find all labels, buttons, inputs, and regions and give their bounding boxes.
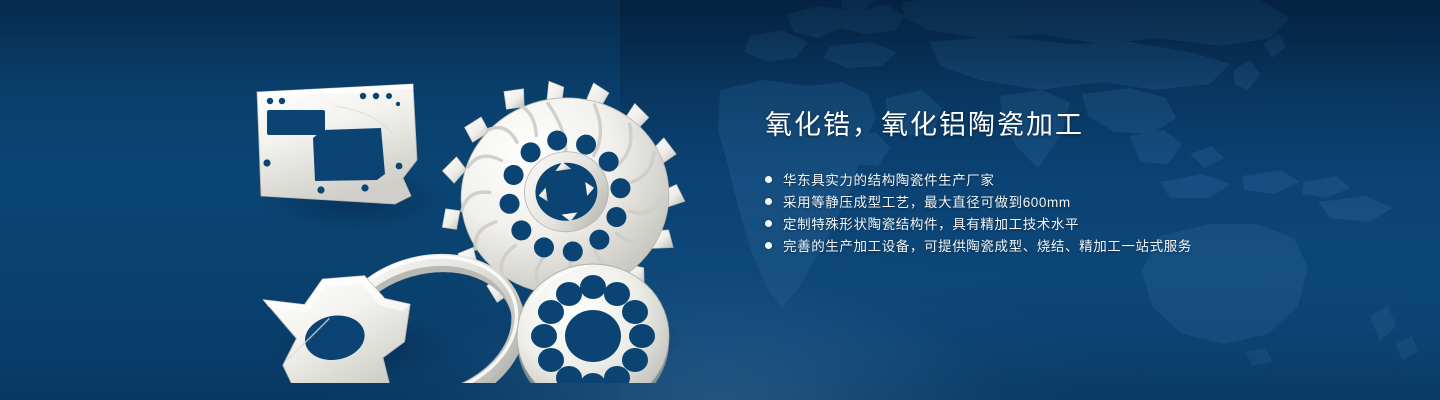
bullet-dot-icon: [765, 242, 772, 249]
ceramic-flat-plate: [257, 84, 417, 204]
banner-bullet-list: 华东具实力的结构陶瓷件生产厂家 采用等静压成型工艺，最大直径可做到600mm 定…: [765, 168, 1365, 256]
banner-text-block: 氧化锆，氧化铝陶瓷加工 华东具实力的结构陶瓷件生产厂家 采用等静压成型工艺，最大…: [765, 108, 1365, 256]
bullet-text: 完善的生产加工设备，可提供陶瓷成型、烧结、精加工一站式服务: [783, 235, 1192, 255]
bullet-dot-icon: [765, 198, 772, 205]
banner-headline: 氧化锆，氧化铝陶瓷加工: [765, 108, 1365, 142]
bullet-text: 定制特殊形状陶瓷结构件，具有精加工技术水平: [783, 213, 1079, 233]
bullet-item: 定制特殊形状陶瓷结构件，具有精加工技术水平: [765, 212, 1365, 234]
bullet-item: 采用等静压成型工艺，最大直径可做到600mm: [765, 190, 1365, 212]
bullet-dot-icon: [765, 220, 772, 227]
ceramic-parts-image: [235, 38, 705, 383]
bullet-text: 华东具实力的结构陶瓷件生产厂家: [783, 169, 995, 189]
bullet-item: 完善的生产加工设备，可提供陶瓷成型、烧结、精加工一站式服务: [765, 234, 1365, 256]
bullet-text: 采用等静压成型工艺，最大直径可做到600mm: [783, 191, 1071, 211]
bullet-item: 华东具实力的结构陶瓷件生产厂家: [765, 168, 1365, 190]
promo-banner: 氧化锆，氧化铝陶瓷加工 华东具实力的结构陶瓷件生产厂家 采用等静压成型工艺，最大…: [0, 0, 1440, 400]
bullet-dot-icon: [765, 176, 772, 183]
